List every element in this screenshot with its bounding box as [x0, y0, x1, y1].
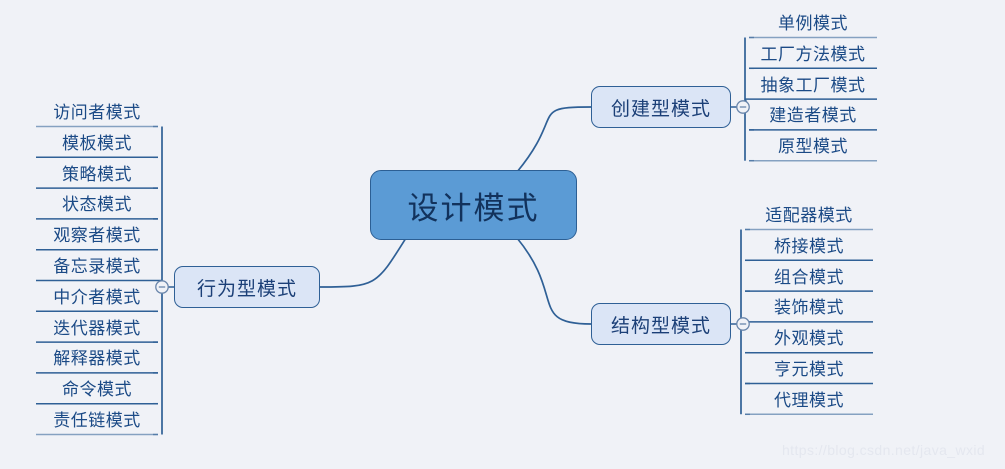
leaf-node[interactable]: 原型模式 — [749, 135, 877, 159]
leaf-node[interactable]: 单例模式 — [749, 12, 877, 36]
root-node-label: 设计模式 — [408, 183, 540, 228]
leaf-node-label: 责任链模式 — [53, 411, 141, 430]
leaf-node-label: 观察者模式 — [53, 226, 141, 245]
leaf-node-label: 状态模式 — [62, 195, 132, 214]
leaf-node[interactable]: 观察者模式 — [36, 224, 158, 248]
leaf-node[interactable]: 中介者模式 — [36, 286, 158, 310]
leaf-node[interactable]: 装饰模式 — [745, 296, 873, 320]
leaf-node-label: 解释器模式 — [53, 349, 141, 368]
branch-node-label: 结构型模式 — [611, 311, 711, 338]
leaf-node-label: 迭代器模式 — [53, 319, 141, 338]
leaf-node-label: 策略模式 — [62, 165, 132, 184]
leaf-node-label: 单例模式 — [778, 14, 848, 33]
leaf-node-label: 代理模式 — [774, 391, 844, 410]
leaf-node[interactable]: 访问者模式 — [36, 101, 158, 125]
leaf-node[interactable]: 命令模式 — [36, 378, 158, 402]
leaf-node[interactable]: 解释器模式 — [36, 347, 158, 371]
leaf-node-label: 命令模式 — [62, 380, 132, 399]
leaf-node[interactable]: 外观模式 — [745, 327, 873, 351]
branch-node-label: 行为型模式 — [197, 274, 297, 301]
leaf-node[interactable]: 责任链模式 — [36, 409, 158, 433]
leaf-node[interactable]: 亨元模式 — [745, 358, 873, 382]
leaf-node[interactable]: 适配器模式 — [745, 204, 873, 228]
branch-node-creational[interactable]: 创建型模式 — [591, 86, 731, 128]
leaf-node[interactable]: 组合模式 — [745, 266, 873, 290]
leaf-node-label: 工厂方法模式 — [761, 45, 866, 64]
leaf-node[interactable]: 策略模式 — [36, 163, 158, 187]
leaf-node[interactable]: 桥接模式 — [745, 235, 873, 259]
leaf-node[interactable]: 工厂方法模式 — [749, 43, 877, 67]
branch-node-structural[interactable]: 结构型模式 — [591, 303, 731, 345]
leaf-node-label: 原型模式 — [778, 137, 848, 156]
leaf-node-label: 装饰模式 — [774, 298, 844, 317]
leaf-node-label: 亨元模式 — [774, 360, 844, 379]
leaf-node[interactable]: 代理模式 — [745, 389, 873, 413]
branch-node-label: 创建型模式 — [611, 94, 711, 121]
mindmap-canvas: 设计模式 创建型模式单例模式工厂方法模式抽象工厂模式建造者模式原型模式结构型模式… — [0, 0, 1005, 469]
leaf-node[interactable]: 建造者模式 — [749, 104, 877, 128]
branch-node-behavioral[interactable]: 行为型模式 — [174, 266, 320, 308]
leaf-node-label: 适配器模式 — [765, 206, 853, 225]
watermark: https://blog.csdn.net/java_wxid — [782, 442, 985, 458]
leaf-node-label: 备忘录模式 — [53, 257, 141, 276]
leaf-node-label: 外观模式 — [774, 329, 844, 348]
leaf-node-label: 访问者模式 — [53, 103, 141, 122]
leaf-node-label: 组合模式 — [774, 268, 844, 287]
leaf-node-label: 建造者模式 — [769, 106, 857, 125]
root-node[interactable]: 设计模式 — [370, 170, 577, 240]
leaf-node-label: 中介者模式 — [53, 288, 141, 307]
leaf-node[interactable]: 抽象工厂模式 — [749, 74, 877, 98]
leaf-node[interactable]: 迭代器模式 — [36, 317, 158, 341]
leaf-node-label: 抽象工厂模式 — [761, 76, 866, 95]
leaf-node[interactable]: 状态模式 — [36, 193, 158, 217]
leaf-node[interactable]: 模板模式 — [36, 132, 158, 156]
collapse-toggle-creational[interactable] — [737, 101, 749, 113]
leaf-node[interactable]: 备忘录模式 — [36, 255, 158, 279]
leaf-node-label: 桥接模式 — [774, 237, 844, 256]
leaf-node-label: 模板模式 — [62, 134, 132, 153]
